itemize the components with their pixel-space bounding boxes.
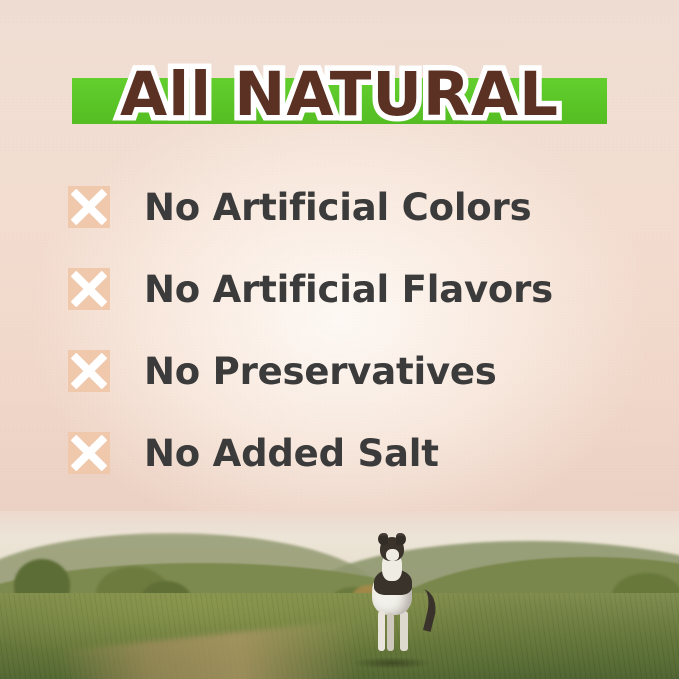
headline-banner: All NATURAL All NATURAL xyxy=(0,52,679,138)
dog-front-leg-right xyxy=(387,613,394,651)
x-mark-icon xyxy=(68,432,110,474)
landscape-photo xyxy=(0,511,679,679)
list-item: No Added Salt xyxy=(68,412,628,494)
claim-label: No Added Salt xyxy=(144,432,439,475)
product-feature-poster: All NATURAL All NATURAL No Artificial Co… xyxy=(0,0,679,679)
claims-list: No Artificial Colors No Artificial Flavo… xyxy=(68,166,628,494)
headline-text: All NATURAL xyxy=(0,52,679,138)
photo-top-blend xyxy=(0,511,679,537)
claim-label: No Preservatives xyxy=(144,350,497,393)
x-mark-icon xyxy=(68,186,110,228)
list-item: No Artificial Colors xyxy=(68,166,628,248)
x-mark-icon xyxy=(68,268,110,310)
claim-label: No Artificial Colors xyxy=(144,186,531,229)
dog-back-leg xyxy=(400,611,408,651)
claim-label: No Artificial Flavors xyxy=(144,268,553,311)
x-mark-icon xyxy=(68,350,110,392)
list-item: No Preservatives xyxy=(68,330,628,412)
list-item: No Artificial Flavors xyxy=(68,248,628,330)
dog-front-leg-left xyxy=(378,611,385,651)
dog xyxy=(356,519,426,667)
dog-snout xyxy=(386,549,399,561)
